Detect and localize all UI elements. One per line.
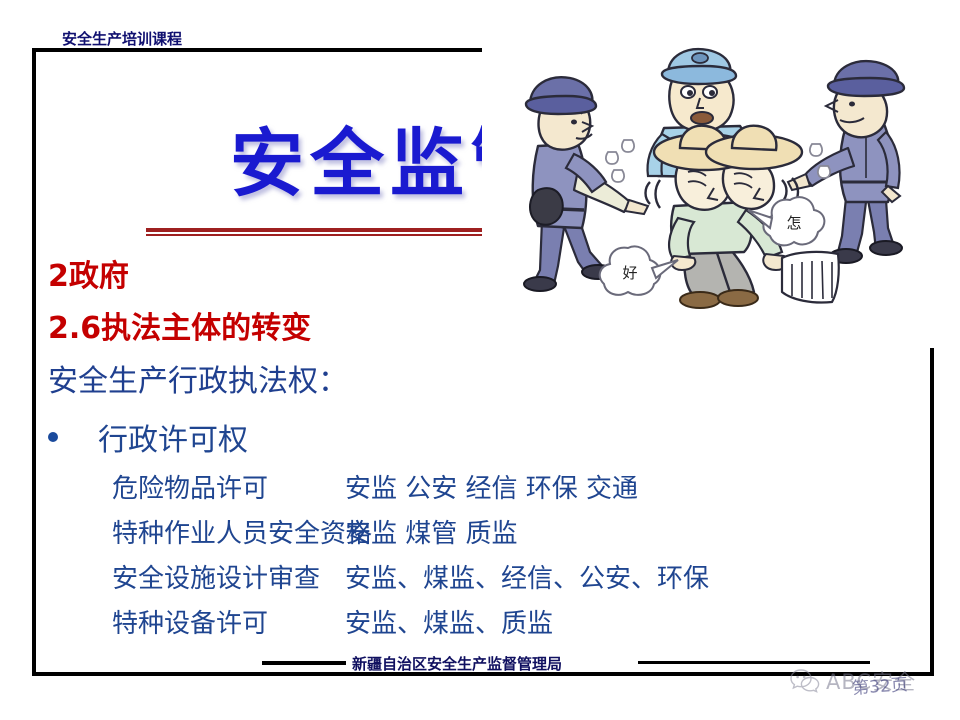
permission-items-list: 危险物品许可 安监 公安 经信 环保 交通 特种作业人员安全资格 安监 煤管 质… bbox=[112, 468, 932, 648]
item-name: 危险物品许可 bbox=[112, 468, 345, 505]
list-item: 特种设备许可 安监、煤监、质监 bbox=[112, 603, 932, 648]
bullet-item-label: 行政许可权 bbox=[98, 415, 248, 459]
item-name: 特种设备许可 bbox=[112, 603, 345, 640]
item-departments: 安监、煤监、经信、公安、环保 bbox=[345, 558, 709, 595]
item-name: 安全设施设计审查 bbox=[112, 558, 345, 595]
footer-organization-name: 新疆自治区安全生产监督管理局 bbox=[352, 653, 562, 674]
content-frame-top-border bbox=[32, 48, 484, 52]
course-header-title: 安全生产培训课程 bbox=[62, 28, 182, 49]
speech-bubble-left-text: 好 bbox=[622, 264, 637, 282]
page-number-label: 第32页 bbox=[851, 670, 908, 699]
title-underline-thin bbox=[146, 234, 490, 236]
cartoon-illustration: 好 怎 bbox=[482, 30, 942, 348]
item-departments: 安监、煤监、质监 bbox=[345, 603, 553, 640]
speech-bubble-right-text: 怎 bbox=[786, 214, 801, 232]
document-paper bbox=[782, 252, 839, 303]
content-frame-left-border bbox=[32, 48, 36, 676]
bullet-item-row: 行政许可权 bbox=[48, 415, 248, 459]
list-item: 特种作业人员安全资格 安监 煤管 质监 bbox=[112, 513, 932, 558]
wechat-icon bbox=[790, 668, 820, 694]
section-number-heading: 2政府 bbox=[48, 251, 129, 295]
slide-canvas: 安全生产培训课程 安全监管 bbox=[0, 0, 960, 720]
footer-rule-left bbox=[262, 661, 346, 665]
bullet-dot-icon bbox=[48, 432, 58, 442]
title-underline-thick bbox=[146, 228, 490, 232]
subsection-heading: 2.6执法主体的转变 bbox=[48, 303, 311, 347]
footer-rule-right bbox=[638, 661, 870, 664]
item-name: 特种作业人员安全资格 bbox=[112, 513, 345, 550]
item-departments: 安监 公安 经信 环保 交通 bbox=[345, 468, 638, 505]
item-departments: 安监 煤管 质监 bbox=[345, 513, 518, 550]
lead-in-text: 安全生产行政执法权： bbox=[48, 356, 348, 400]
list-item: 危险物品许可 安监 公安 经信 环保 交通 bbox=[112, 468, 932, 513]
list-item: 安全设施设计审查 安监、煤监、经信、公安、环保 bbox=[112, 558, 932, 603]
